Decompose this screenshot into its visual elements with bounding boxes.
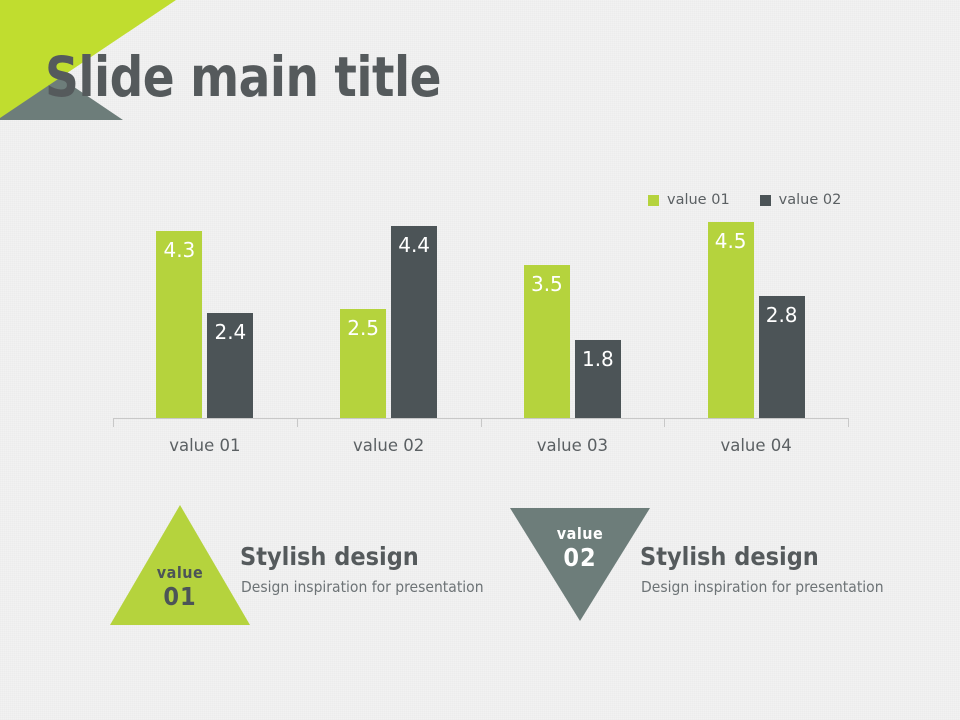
bar-value-label: 3.5 xyxy=(524,272,570,296)
bar[interactable]: 2.5 xyxy=(340,309,386,418)
feature-heading: Stylish design xyxy=(640,542,819,571)
feature-badge-02: value 02 xyxy=(510,526,650,571)
bar-value-label: 4.4 xyxy=(391,233,437,257)
bar-value-label: 4.3 xyxy=(156,238,202,262)
bar-group: 2.54.4 xyxy=(297,200,481,418)
bar[interactable]: 4.4 xyxy=(391,226,437,418)
category-label: value 01 xyxy=(113,436,297,455)
bar[interactable]: 4.3 xyxy=(156,231,202,418)
feature-badge-word: value xyxy=(110,565,250,582)
bar-chart: 4.32.42.54.43.51.84.52.8 xyxy=(113,200,848,418)
bar-value-label: 2.8 xyxy=(759,303,805,327)
bar-group: 3.51.8 xyxy=(481,200,665,418)
feature-badge-number: 01 xyxy=(110,584,250,610)
bar-value-label: 2.4 xyxy=(207,320,253,344)
feature-badge-01: value 01 xyxy=(110,565,250,610)
category-label: value 04 xyxy=(664,436,848,455)
chart-plot-area: 4.32.42.54.43.51.84.52.8 xyxy=(113,200,848,418)
feature-badge-word: value xyxy=(510,526,650,543)
bar[interactable]: 2.4 xyxy=(207,313,253,418)
axis-tick xyxy=(664,418,665,427)
bar-group: 4.52.8 xyxy=(664,200,848,418)
bar-value-label: 2.5 xyxy=(340,316,386,340)
bar-value-label: 4.5 xyxy=(708,229,754,253)
feature-heading: Stylish design xyxy=(240,542,419,571)
category-label: value 02 xyxy=(297,436,481,455)
bar[interactable]: 2.8 xyxy=(759,296,805,418)
axis-tick xyxy=(848,418,849,427)
page-title: Slide main title xyxy=(45,47,441,108)
bar-group: 4.32.4 xyxy=(113,200,297,418)
axis-tick xyxy=(113,418,114,427)
feature-subtitle: Design inspiration for presentation xyxy=(241,578,484,596)
feature-badge-number: 02 xyxy=(510,545,650,571)
axis-tick xyxy=(297,418,298,427)
bar[interactable]: 1.8 xyxy=(575,340,621,418)
slide-canvas: Slide main title value 01 value 02 4.32.… xyxy=(0,0,960,720)
category-label: value 03 xyxy=(481,436,665,455)
bar-value-label: 1.8 xyxy=(575,347,621,371)
bar[interactable]: 4.5 xyxy=(708,222,754,418)
axis-tick xyxy=(481,418,482,427)
feature-subtitle: Design inspiration for presentation xyxy=(641,578,884,596)
bar[interactable]: 3.5 xyxy=(524,265,570,418)
